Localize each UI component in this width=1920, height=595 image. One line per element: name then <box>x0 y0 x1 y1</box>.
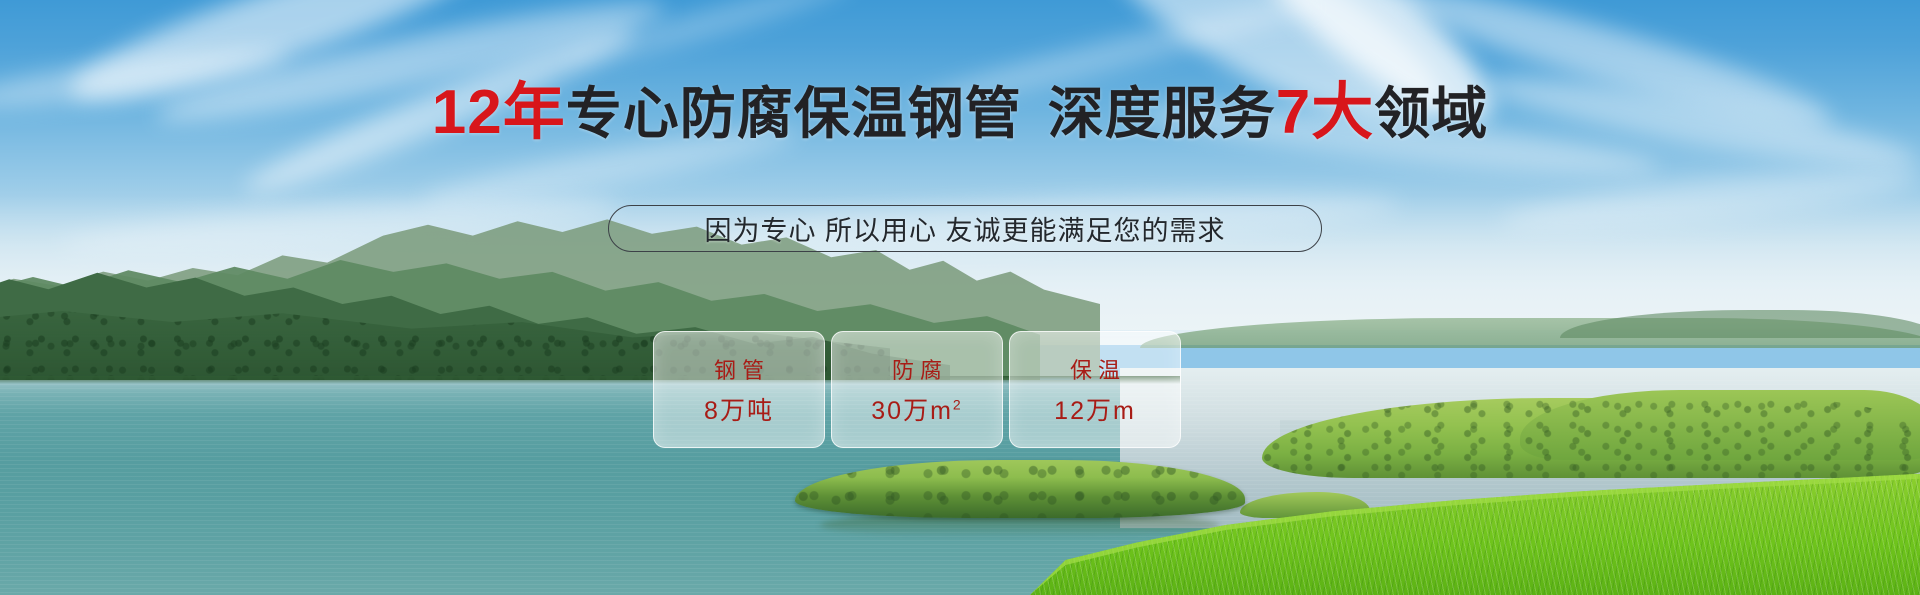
headline-service-text: 深度服务 <box>1048 82 1276 145</box>
headline-main-text: 专心防腐保温钢管 <box>566 82 1022 145</box>
stat-card-value: 8万吨 <box>704 391 774 427</box>
subtitle-text: 因为专心 所以用心 友诚更能满足您的需求 <box>704 209 1225 248</box>
stat-card-value-main: 12万m <box>1054 397 1136 425</box>
subtitle-pill: 因为专心 所以用心 友诚更能满足您的需求 <box>608 205 1322 252</box>
stat-card-value-main: 8万吨 <box>704 397 774 425</box>
stat-card-label: 钢管 <box>708 353 770 385</box>
headline-seven-highlight: 7大 <box>1276 78 1374 147</box>
stat-card-label: 保温 <box>1064 353 1126 385</box>
banner-headline: 12年专心防腐保温钢管深度服务7大领域 <box>0 82 1920 145</box>
stat-card-group: 钢管 8万吨 防腐 30万m2 保温 12万m <box>653 331 1181 448</box>
stat-card-anticorrosion[interactable]: 防腐 30万m2 <box>831 331 1003 448</box>
stat-card-steel-pipe[interactable]: 钢管 8万吨 <box>653 331 825 448</box>
stat-card-value-main: 30万m <box>871 397 953 425</box>
stat-card-insulation[interactable]: 保温 12万m <box>1009 331 1181 448</box>
stat-card-value-superscript: 2 <box>953 396 963 412</box>
stat-card-value: 30万m2 <box>871 391 962 427</box>
headline-fields-text: 领域 <box>1374 82 1488 145</box>
stat-card-value: 12万m <box>1054 391 1136 427</box>
hero-banner: 12年专心防腐保温钢管深度服务7大领域 因为专心 所以用心 友诚更能满足您的需求… <box>0 0 1920 595</box>
stat-card-label: 防腐 <box>886 353 948 385</box>
headline-years-highlight: 12年 <box>432 78 566 147</box>
